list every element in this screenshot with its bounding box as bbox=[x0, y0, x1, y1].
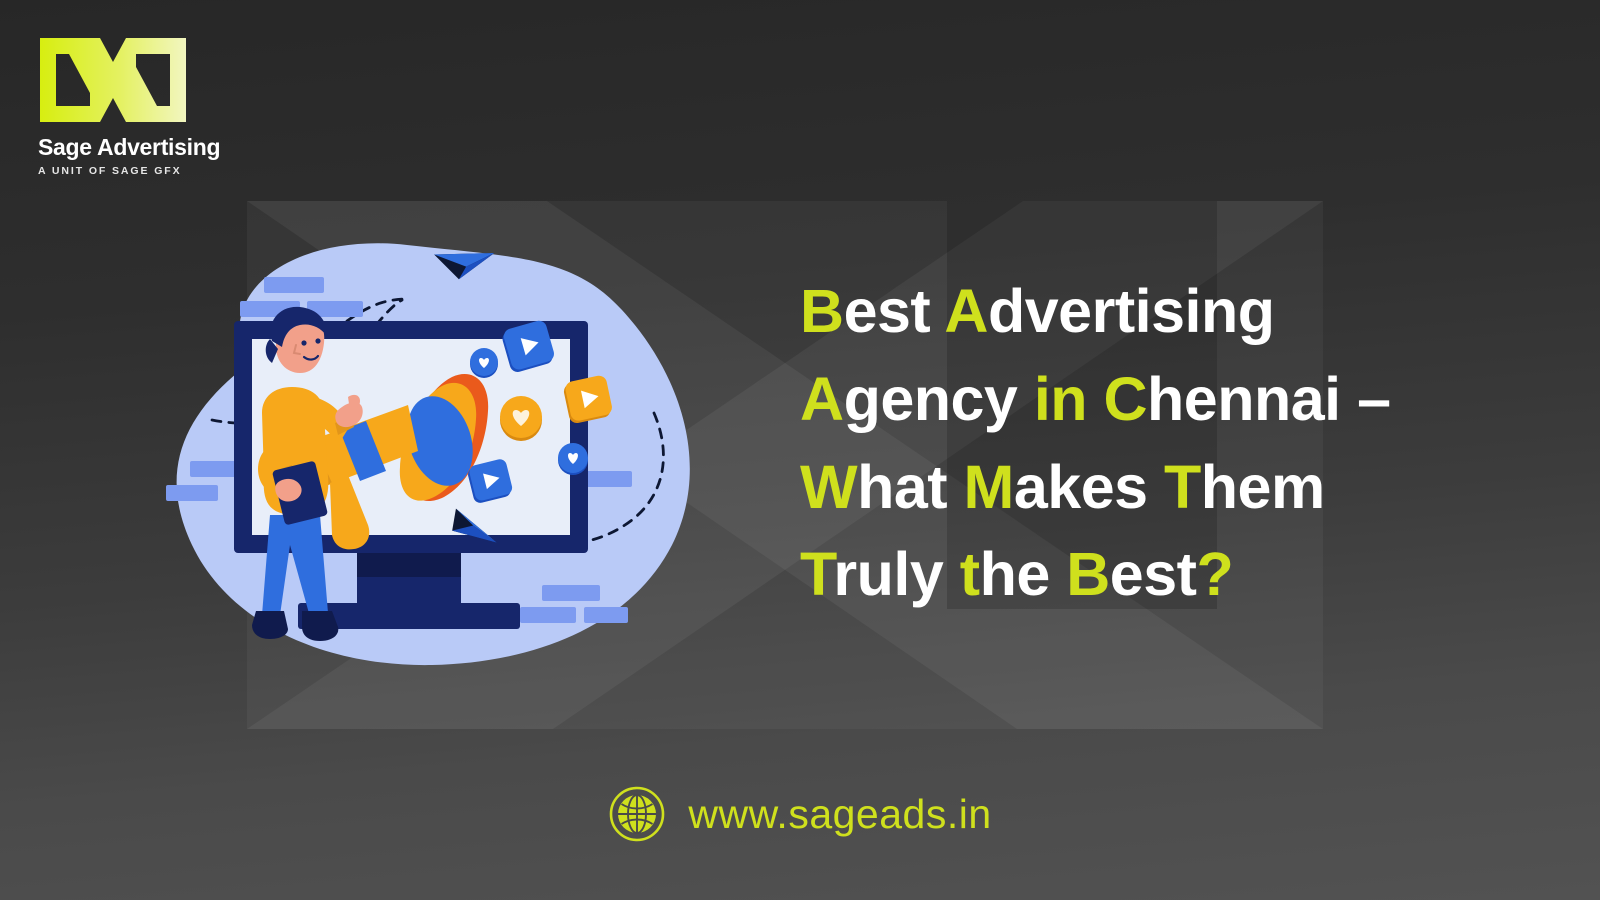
headline-line-4: Truly the Best? bbox=[800, 531, 1500, 619]
headline-line-3: What Makes Them bbox=[800, 444, 1500, 532]
brand-logo[interactable]: Sage Advertising A UNIT OF SAGE GFX bbox=[38, 36, 238, 177]
headline-segment: C bbox=[1103, 365, 1147, 433]
headline-segment: B bbox=[800, 277, 844, 345]
headline-segment: akes bbox=[1014, 453, 1164, 521]
headline-segment: ? bbox=[1196, 540, 1233, 608]
headline-line-2: Agency in Chennai – bbox=[800, 356, 1500, 444]
website-url[interactable]: www.sageads.in bbox=[688, 794, 991, 835]
headline-segment: hem bbox=[1201, 453, 1325, 521]
footer-url-block[interactable]: www.sageads.in bbox=[0, 785, 1600, 843]
headline-segment: est bbox=[844, 277, 945, 345]
headline-segment: in bbox=[1034, 365, 1087, 433]
headline-segment: hat bbox=[857, 453, 963, 521]
headline-segment: B bbox=[1066, 540, 1110, 608]
headline-segment: W bbox=[800, 453, 857, 521]
brand-tagline: A UNIT OF SAGE GFX bbox=[38, 166, 238, 177]
bowtie-infinity-mark-icon bbox=[38, 36, 188, 124]
headline-segment: hennai – bbox=[1147, 365, 1390, 433]
headline-segment: gency bbox=[844, 365, 1034, 433]
digital-marketing-megaphone-illustration-icon bbox=[152, 215, 722, 685]
headline-segment: he bbox=[980, 540, 1067, 608]
headline-segment: A bbox=[800, 365, 844, 433]
headline-segment: T bbox=[1164, 453, 1201, 521]
headline-line-1: Best Advertising bbox=[800, 268, 1500, 356]
headline-segment: ruly bbox=[833, 540, 959, 608]
headline-segment: T bbox=[800, 540, 833, 608]
headline-segment: M bbox=[964, 453, 1014, 521]
brand-name: Sage Advertising bbox=[38, 136, 238, 159]
headline-segment: est bbox=[1110, 540, 1197, 608]
globe-icon bbox=[608, 785, 666, 843]
headline-segment: A bbox=[944, 277, 988, 345]
banner-canvas: Sage Advertising A UNIT OF SAGE GFX bbox=[0, 0, 1600, 900]
headline-segment: dvertising bbox=[988, 277, 1275, 345]
hero-illustration bbox=[152, 215, 722, 685]
headline-segment: t bbox=[960, 540, 980, 608]
page-headline: Best AdvertisingAgency in Chennai –What … bbox=[800, 268, 1500, 619]
headline-segment bbox=[1087, 365, 1103, 433]
